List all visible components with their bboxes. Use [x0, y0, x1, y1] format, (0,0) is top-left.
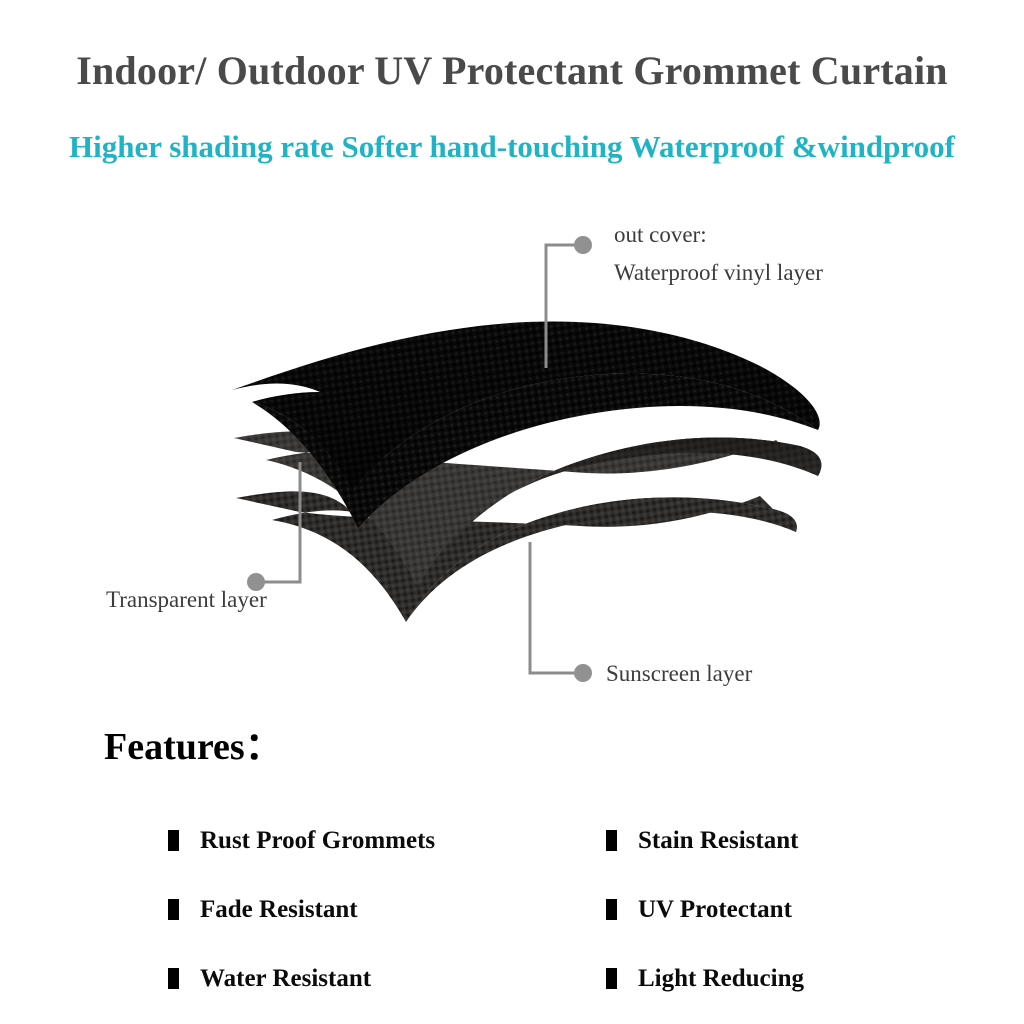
bullet-square-icon: [168, 830, 179, 851]
features-column-right: Stain Resistant UV Protectant Light Redu…: [606, 806, 804, 1013]
bullet-square-icon: [606, 968, 617, 989]
product-infographic: Indoor/ Outdoor UV Protectant Grommet Cu…: [0, 0, 1024, 1024]
bullet-square-icon: [606, 830, 617, 851]
callout-sunscreen-layer-line1: Sunscreen layer: [606, 655, 752, 693]
feature-item: Stain Resistant: [606, 806, 804, 875]
callout-sunscreen-layer: Sunscreen layer: [606, 655, 752, 693]
callout-transparent-layer: Transparent layer: [106, 581, 267, 619]
connector-dot-out-cover: [574, 236, 592, 254]
feature-item: Water Resistant: [168, 944, 435, 1013]
feature-label: Fade Resistant: [200, 896, 358, 924]
feature-label: Stain Resistant: [638, 827, 798, 855]
features-column-left: Rust Proof Grommets Fade Resistant Water…: [168, 806, 435, 1013]
feature-item: Rust Proof Grommets: [168, 806, 435, 875]
page-subtitle: Higher shading rate Softer hand-touching…: [0, 126, 1024, 168]
callout-out-cover: out cover: Waterproof vinyl layer: [614, 216, 823, 292]
page-title: Indoor/ Outdoor UV Protectant Grommet Cu…: [0, 46, 1024, 96]
feature-label: UV Protectant: [638, 896, 792, 924]
bullet-square-icon: [168, 899, 179, 920]
callout-out-cover-line2: Waterproof vinyl layer: [614, 254, 823, 292]
feature-item: Light Reducing: [606, 944, 804, 1013]
features-heading: Features：: [104, 722, 283, 772]
bullet-square-icon: [606, 899, 617, 920]
features-list: Rust Proof Grommets Fade Resistant Water…: [0, 806, 1024, 1006]
connector-sunscreen-layer: [530, 542, 580, 673]
feature-label: Light Reducing: [638, 965, 804, 993]
callout-transparent-layer-line1: Transparent layer: [106, 581, 267, 619]
layered-fabric-illustration: [0, 190, 1024, 710]
connector-dot-sunscreen-layer: [574, 664, 592, 682]
feature-label: Rust Proof Grommets: [200, 827, 435, 855]
fabric-layer-bottom: [236, 491, 797, 622]
feature-item: UV Protectant: [606, 875, 804, 944]
feature-item: Fade Resistant: [168, 875, 435, 944]
callout-out-cover-line1: out cover:: [614, 216, 823, 254]
bullet-square-icon: [168, 968, 179, 989]
feature-label: Water Resistant: [200, 965, 371, 993]
